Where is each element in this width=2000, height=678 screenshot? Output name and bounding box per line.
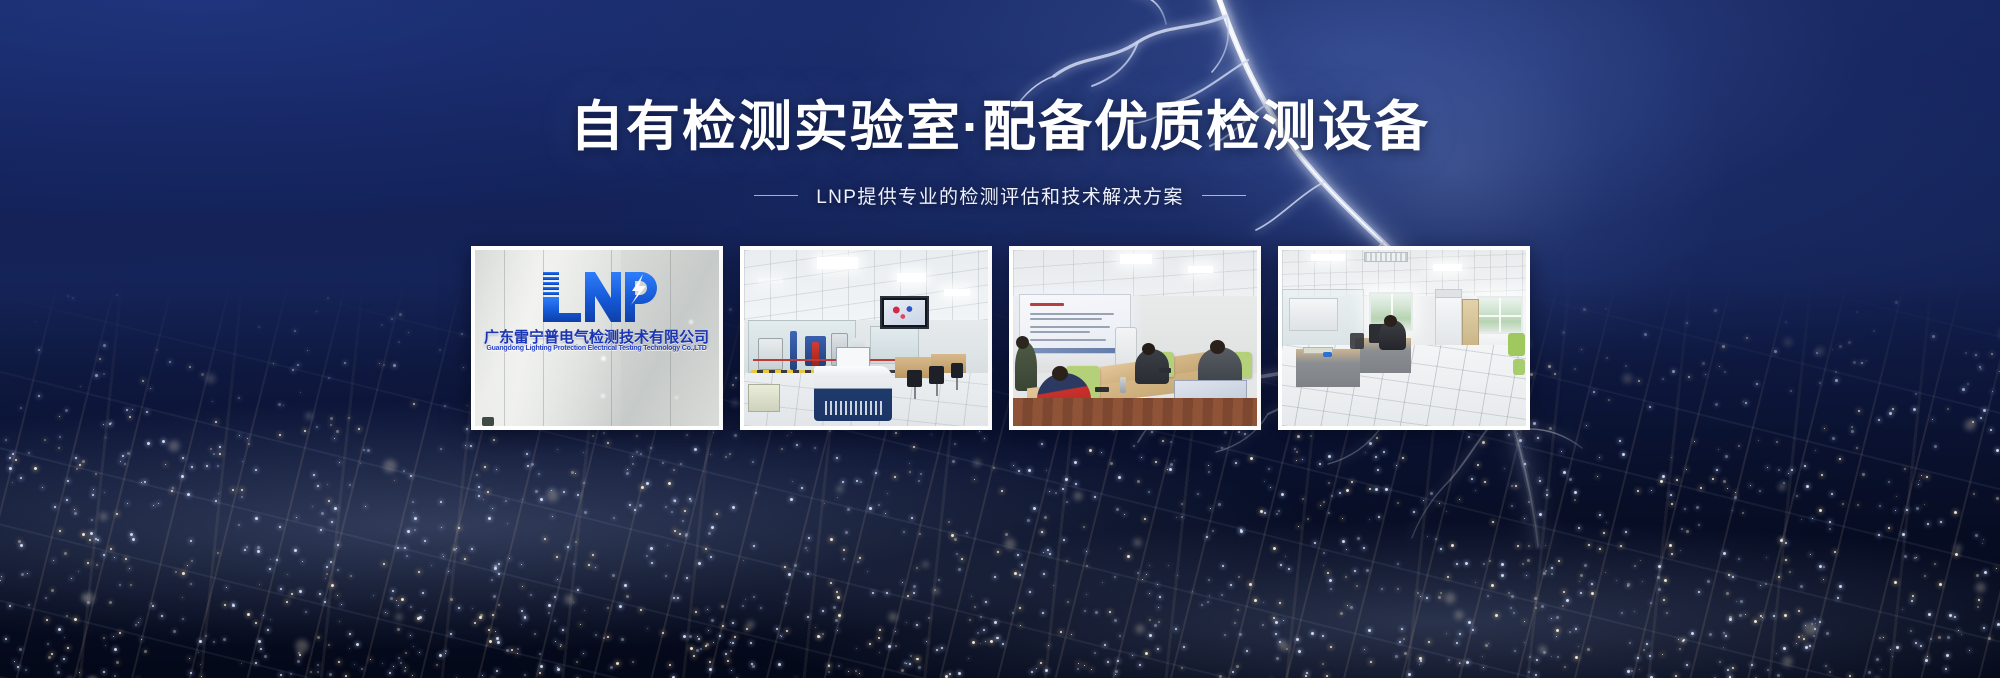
attendee-head bbox=[1052, 366, 1068, 381]
desk-item bbox=[1323, 352, 1332, 357]
slide-text-line bbox=[1030, 339, 1106, 341]
hv-insulator bbox=[812, 342, 819, 367]
attendee-head bbox=[1210, 340, 1225, 354]
safety-rail bbox=[753, 359, 914, 361]
hero-banner: 自有检测实验室·配备优质检测设备 LNP提供专业的检测评估和技术解决方案 bbox=[0, 0, 2000, 678]
gallery-item-meeting[interactable] bbox=[1009, 246, 1261, 430]
window-mullion bbox=[1479, 315, 1521, 317]
office-chair bbox=[907, 370, 922, 388]
subtitle-row: LNP提供专业的检测评估和技术解决方案 bbox=[0, 182, 2000, 209]
wall-monitor bbox=[880, 296, 929, 329]
lnp-logo-icon bbox=[537, 266, 657, 324]
slide-title-line bbox=[1030, 303, 1064, 306]
floor-object bbox=[482, 417, 494, 426]
ceiling-light bbox=[1311, 254, 1345, 261]
photo-gallery: 广东雷宁普电气检测技术有限公司 Guangdong Lighting Prote… bbox=[0, 246, 2000, 430]
company-name-cn: 广东雷宁普电气检测技术有限公司 bbox=[484, 326, 709, 347]
ceiling-vent bbox=[1364, 252, 1408, 263]
hero-copy: 自有检测实验室·配备优质检测设备 LNP提供专业的检测评估和技术解决方案 bbox=[0, 96, 2000, 209]
computer-monitor bbox=[1350, 333, 1365, 349]
testing-laboratory-photo bbox=[744, 250, 988, 426]
trolley-stand bbox=[748, 384, 780, 412]
training-meeting-photo bbox=[1013, 250, 1257, 426]
slide-text-line bbox=[1030, 331, 1090, 333]
tall-cabinet bbox=[1435, 296, 1462, 349]
ceiling-light bbox=[944, 289, 971, 296]
office-chair bbox=[1513, 359, 1525, 375]
slide-taskbar bbox=[1020, 348, 1130, 353]
gallery-item-laboratory[interactable] bbox=[740, 246, 992, 430]
wall-highlight bbox=[675, 396, 678, 399]
ceiling-light bbox=[1433, 264, 1462, 271]
air-conditioner bbox=[1435, 289, 1462, 298]
control-console bbox=[814, 366, 892, 421]
company-name-en: Guangdong Lighting Protection Electrical… bbox=[486, 345, 706, 352]
company-sign-photo: 广东雷宁普电气检测技术有限公司 Guangdong Lighting Prote… bbox=[475, 250, 719, 426]
office-worker-head bbox=[1384, 315, 1397, 327]
ceiling-light bbox=[758, 278, 782, 283]
thermos bbox=[1120, 377, 1126, 393]
test-fixture bbox=[758, 338, 782, 370]
projector-screen bbox=[1019, 294, 1131, 354]
slide-text-line bbox=[1030, 318, 1102, 320]
page-subtitle: LNP提供专业的检测评估和技术解决方案 bbox=[816, 182, 1184, 209]
hv-column bbox=[790, 331, 797, 370]
presenter bbox=[1015, 342, 1037, 391]
office-chair bbox=[1508, 333, 1525, 356]
slide-text-line bbox=[1030, 313, 1114, 315]
ceiling-light bbox=[817, 257, 858, 269]
lab-equipment-behind-glass bbox=[1289, 298, 1338, 331]
page-title: 自有检测实验室·配备优质检测设备 bbox=[0, 96, 2000, 160]
ceiling-light bbox=[1120, 254, 1152, 265]
office-chair bbox=[951, 363, 963, 379]
slide-text-line bbox=[1030, 326, 1110, 328]
ceiling-light bbox=[897, 273, 926, 282]
rule-left-decoration bbox=[754, 195, 798, 196]
shelf-unit bbox=[1462, 299, 1479, 348]
phone bbox=[1159, 368, 1171, 373]
console-desktop bbox=[814, 366, 892, 378]
console-vents bbox=[825, 401, 884, 415]
wood-floor bbox=[1013, 398, 1257, 426]
office-workspace-photo bbox=[1282, 250, 1526, 426]
gallery-item-company-sign[interactable]: 广东雷宁普电气检测技术有限公司 Guangdong Lighting Prote… bbox=[471, 246, 723, 430]
gallery-item-office[interactable] bbox=[1278, 246, 1530, 430]
ceiling-light bbox=[1188, 266, 1212, 273]
wall-highlight bbox=[689, 320, 693, 324]
window bbox=[1477, 296, 1523, 335]
phone bbox=[1095, 387, 1109, 392]
office-chair bbox=[929, 366, 944, 384]
monitor-screen bbox=[884, 300, 925, 325]
rule-right-decoration bbox=[1202, 195, 1246, 196]
